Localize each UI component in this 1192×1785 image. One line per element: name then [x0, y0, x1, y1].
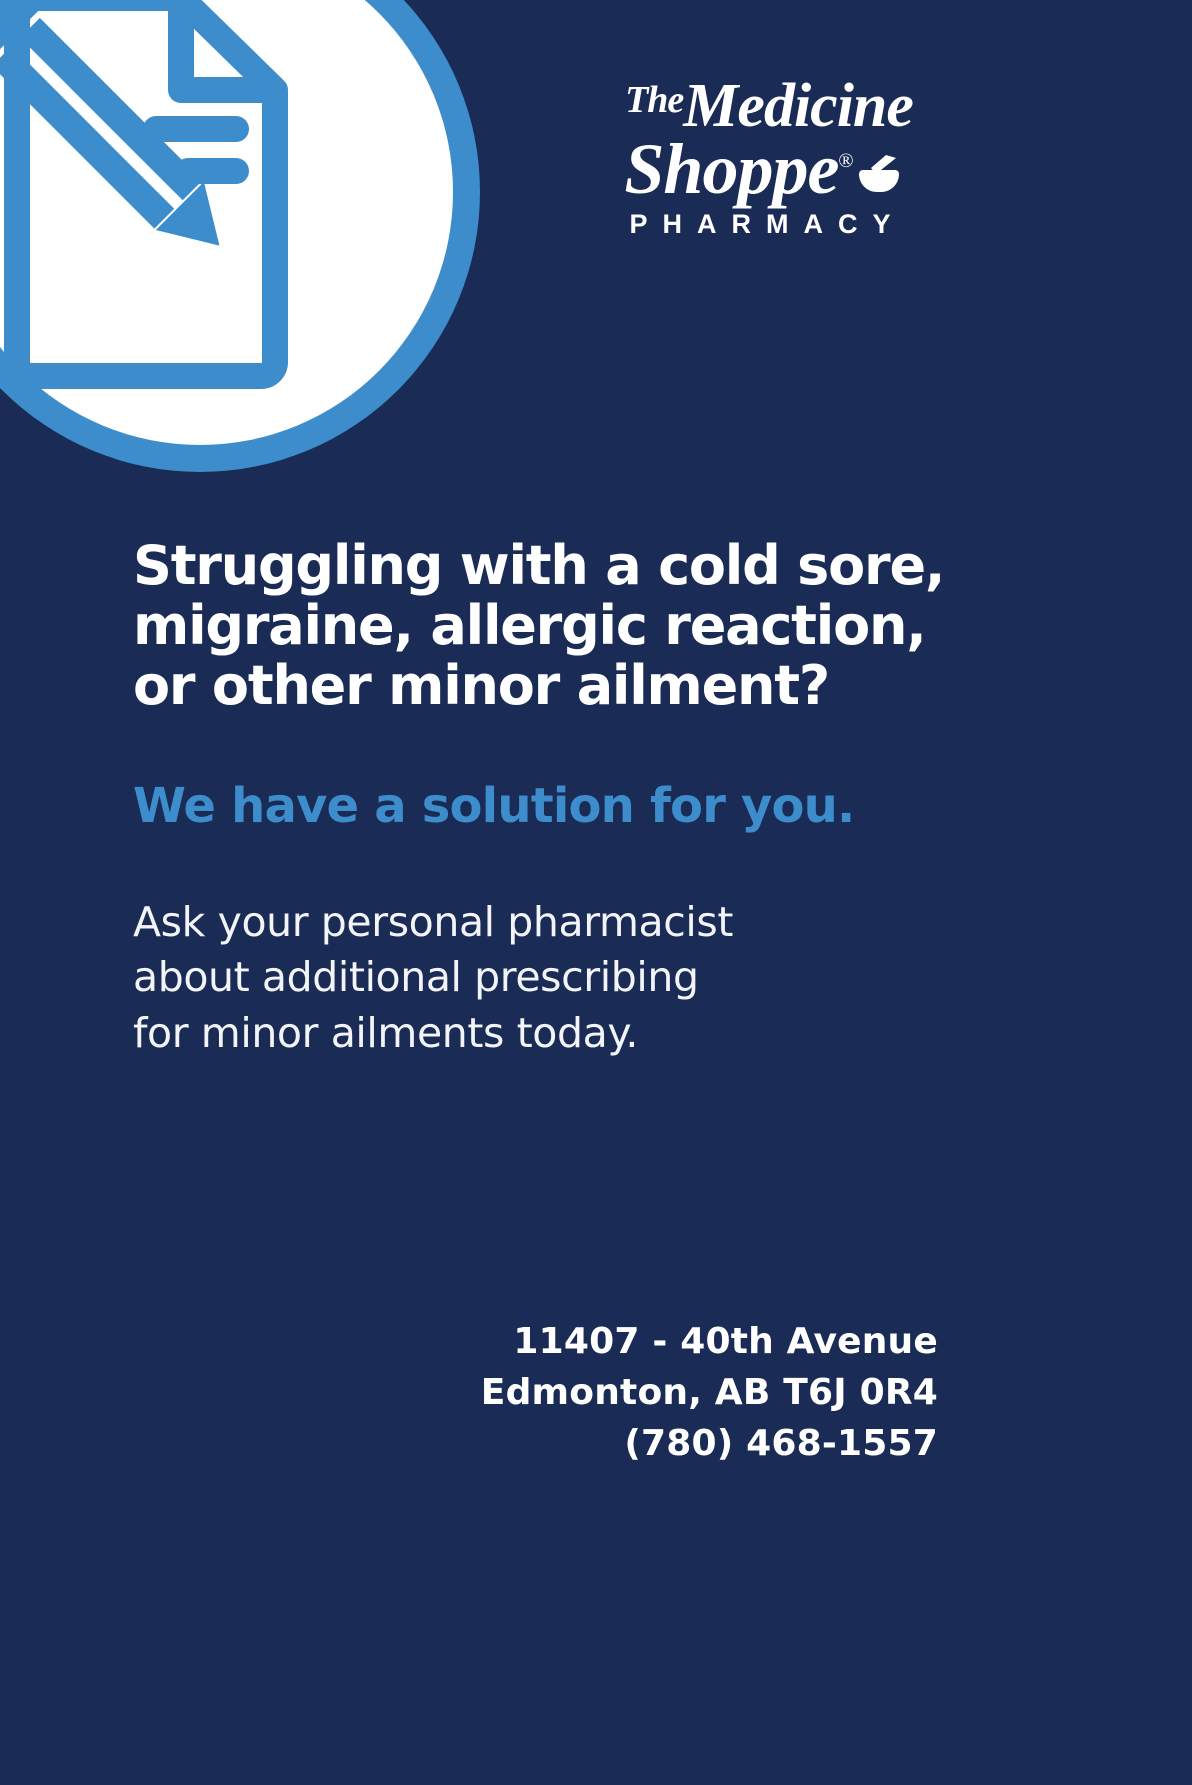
copy-block: Struggling with a cold sore, migraine, a… — [133, 536, 963, 1062]
headline-line-2: migraine, allergic reaction, — [133, 596, 963, 656]
body-line-3: for minor ailments today. — [133, 1006, 963, 1062]
subheadline: We have a solution for you. — [133, 716, 963, 833]
registered-mark: ® — [838, 150, 853, 172]
brand-pharmacy: PHARMACY — [560, 209, 960, 240]
mortar-and-pestle-icon — [856, 153, 902, 199]
phone-number[interactable]: (780) 468-1557 — [238, 1418, 938, 1469]
headline-line-1: Struggling with a cold sore, — [133, 536, 963, 596]
address-street: 11407 - 40th Avenue — [238, 1316, 938, 1367]
store-contact-block: 11407 - 40th Avenue Edmonton, AB T6J 0R4… — [238, 1316, 938, 1469]
brand-line-shoppe: Shoppe® — [560, 135, 960, 203]
brand-shoppe: Shoppe — [624, 129, 838, 209]
brand-line-medicine: TheMedicine — [560, 78, 960, 135]
body-copy: Ask your personal pharmacist about addit… — [133, 833, 963, 1062]
brand-logo: TheMedicine Shoppe® PHARMACY — [560, 78, 960, 240]
body-line-1: Ask your personal pharmacist — [133, 895, 963, 951]
pharmacy-poster: TheMedicine Shoppe® PHARMACY Struggling … — [0, 0, 1192, 1785]
address-city-province-postal: Edmonton, AB T6J 0R4 — [238, 1367, 938, 1418]
logo-badge — [0, 0, 480, 472]
headline-line-3: or other minor ailment? — [133, 656, 963, 716]
page-title: Struggling with a cold sore, migraine, a… — [133, 536, 963, 716]
prescription-document-pencil-icon — [0, 0, 375, 390]
body-line-2: about additional prescribing — [133, 950, 963, 1006]
brand-the: The — [625, 79, 683, 121]
